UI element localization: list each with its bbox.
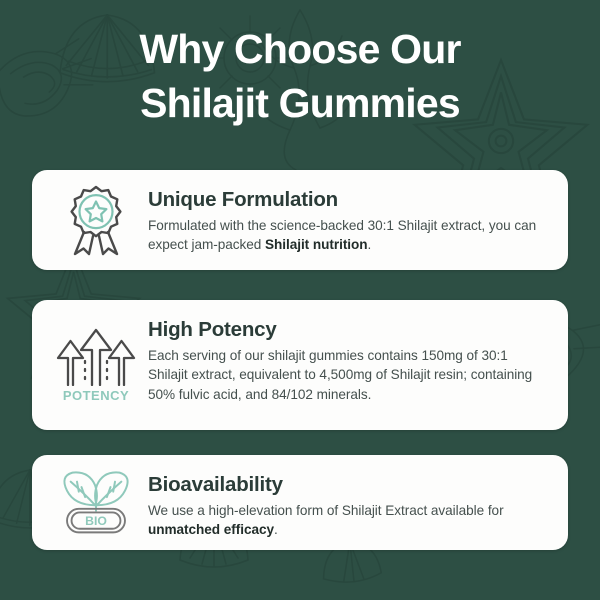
page-title: Why Choose Our Shilajit Gummies: [0, 0, 600, 130]
leaves-bio-capsule-icon: BIO: [54, 469, 138, 536]
card-icon-container: POTENCY: [48, 314, 144, 416]
card-body: Each serving of our shilajit gummies con…: [148, 346, 550, 404]
card-body: We use a high-elevation form of Shilajit…: [148, 501, 550, 540]
bio-icon-label: BIO: [85, 514, 107, 528]
card-icon-container: BIO: [48, 469, 144, 536]
card-heading: High Potency: [148, 318, 550, 342]
card-heading: Unique Formulation: [148, 188, 550, 212]
card-body-emphasis: unmatched efficacy: [148, 522, 274, 537]
upward-arrows-potency-icon: [54, 328, 138, 386]
potency-icon-label: POTENCY: [63, 388, 129, 403]
card-heading: Bioavailability: [148, 473, 550, 497]
feature-card-bioavailability: BIO Bioavailability We use a high-elevat…: [32, 455, 568, 550]
poster-content: Why Choose Our Shilajit Gummies: [0, 0, 600, 600]
feature-card-high-potency: POTENCY High Potency Each serving of our…: [32, 300, 568, 430]
card-body-part2: .: [274, 522, 278, 537]
card-body-part2: .: [368, 237, 372, 252]
card-body-part1: We use a high-elevation form of Shilajit…: [148, 503, 504, 518]
award-badge-star-icon: [65, 184, 127, 256]
title-line-2: Shilajit Gummies: [0, 76, 600, 130]
card-body-emphasis: Shilajit nutrition: [265, 237, 368, 252]
card-text-container: Bioavailability We use a high-elevation …: [144, 469, 550, 540]
poster-root: Why Choose Our Shilajit Gummies: [0, 0, 600, 600]
feature-card-list: Unique Formulation Formulated with the s…: [32, 170, 568, 550]
card-body-part1: Each serving of our shilajit gummies con…: [148, 348, 532, 402]
card-text-container: Unique Formulation Formulated with the s…: [144, 184, 550, 255]
card-text-container: High Potency Each serving of our shilaji…: [144, 314, 550, 404]
card-icon-container: [48, 184, 144, 256]
card-body: Formulated with the science-backed 30:1 …: [148, 216, 550, 255]
title-line-1: Why Choose Our: [0, 22, 600, 76]
feature-card-unique-formulation: Unique Formulation Formulated with the s…: [32, 170, 568, 270]
